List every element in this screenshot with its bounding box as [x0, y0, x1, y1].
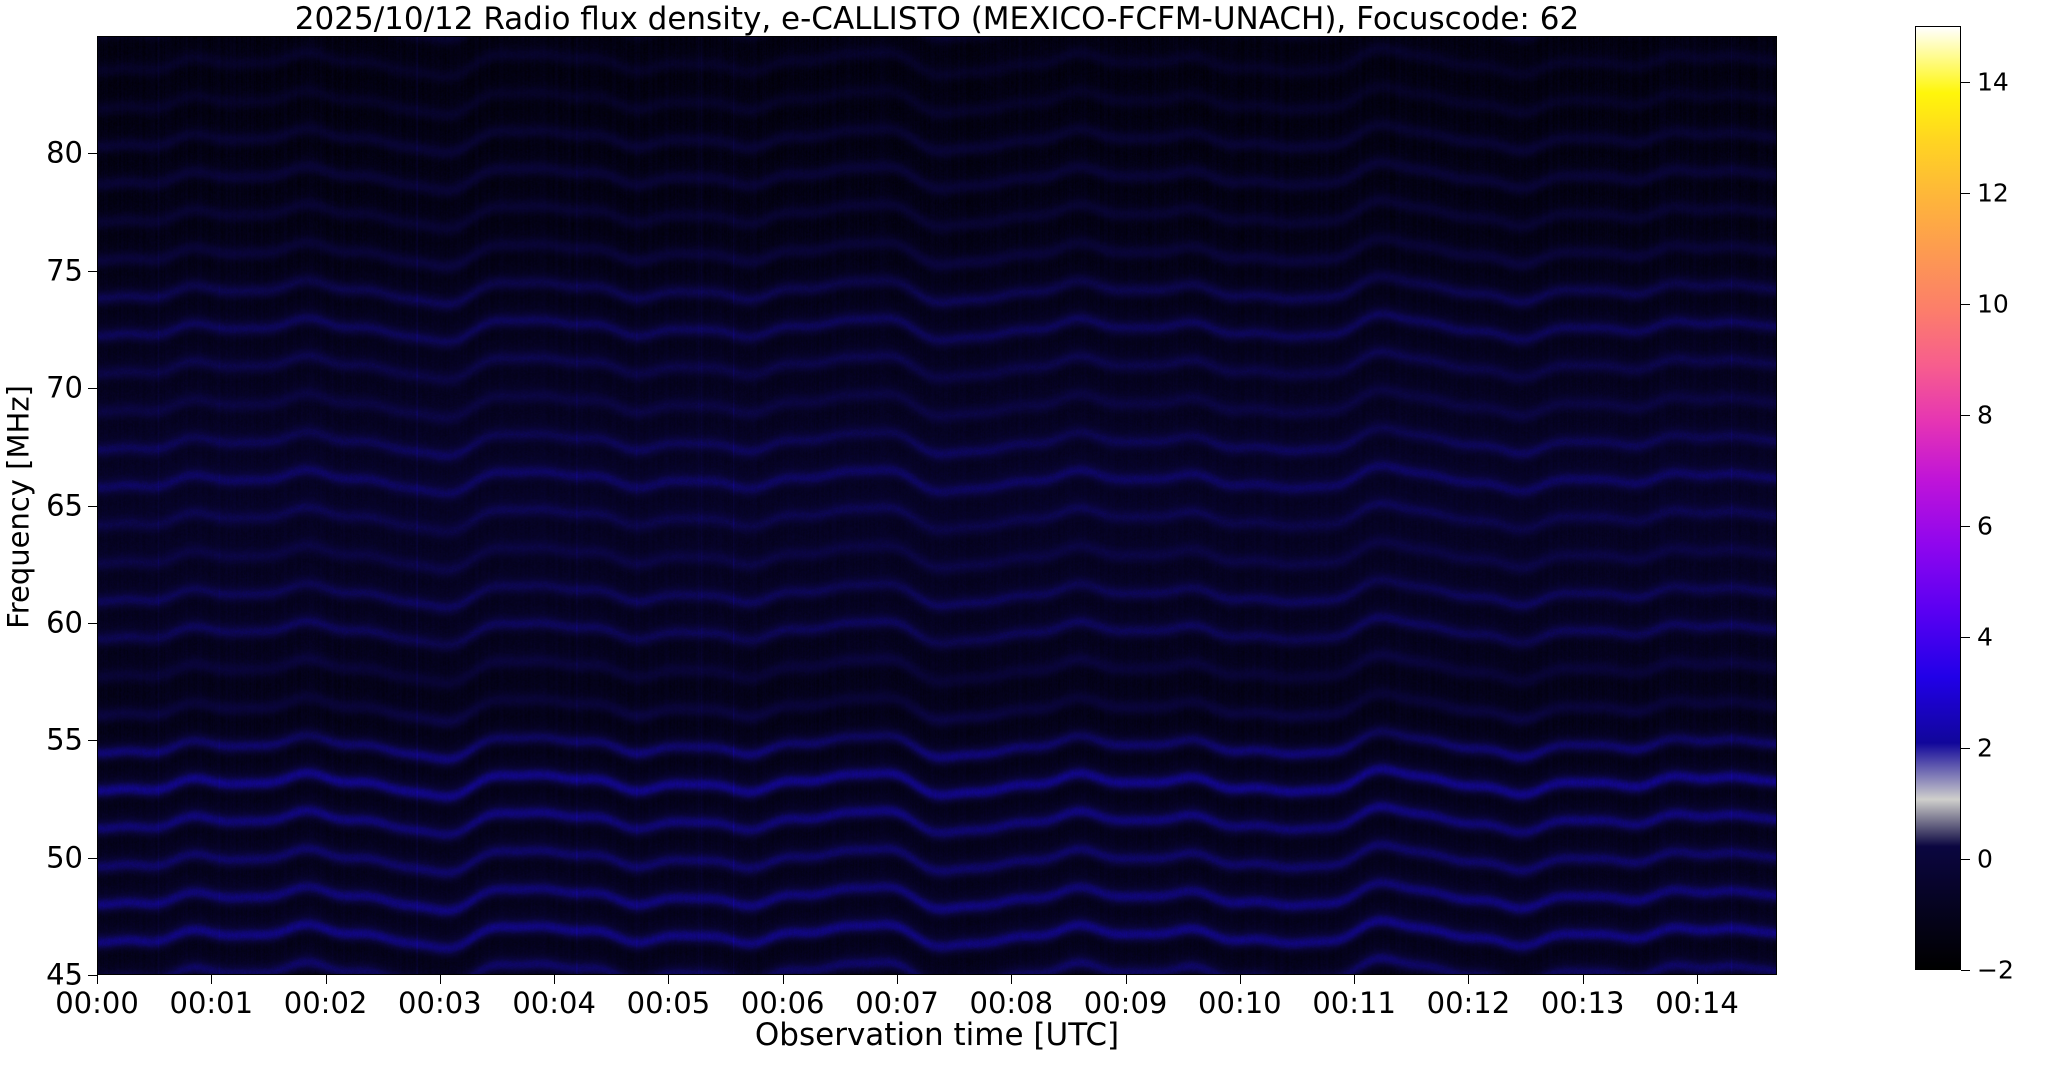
x-axis-tick-label: 00:12	[1427, 988, 1511, 1018]
y-axis-tick	[88, 858, 97, 859]
y-axis-tick-label: 55	[46, 726, 83, 755]
y-axis-tick-label: 70	[46, 374, 83, 403]
x-axis-tick	[1583, 975, 1584, 984]
colorbar-gradient	[1915, 26, 1961, 970]
colorbar-tick-label: 4	[1977, 624, 1993, 649]
spectrogram-figure: 2025/10/12 Radio flux density, e-CALLIST…	[0, 0, 2047, 1067]
x-axis-tick	[1354, 975, 1355, 984]
colorbar-tick	[1961, 526, 1970, 527]
x-axis-tick	[1697, 975, 1698, 984]
x-axis-tick-label: 00:13	[1541, 988, 1625, 1018]
y-axis-tick	[88, 388, 97, 389]
colorbar-tick	[1961, 748, 1970, 749]
x-axis-tick-label: 00:11	[1312, 988, 1396, 1018]
page-title: 2025/10/12 Radio flux density, e-CALLIST…	[97, 2, 1777, 36]
y-axis-tick-label: 60	[46, 608, 83, 637]
colorbar-tick-label: 2	[1977, 735, 1993, 760]
y-axis-tick	[88, 506, 97, 507]
y-axis-tick-label: 75	[46, 256, 83, 285]
colorbar[interactable]: −202468101214	[1915, 26, 1961, 970]
x-axis-tick	[1468, 975, 1469, 984]
x-axis-tick-label: 00:06	[741, 988, 825, 1018]
x-axis-tick-label: 00:10	[1198, 988, 1282, 1018]
colorbar-tick-label: 10	[1977, 291, 2009, 316]
colorbar-tick	[1961, 193, 1970, 194]
y-axis-tick	[88, 975, 97, 976]
spectrogram-axes[interactable]	[97, 36, 1777, 975]
colorbar-tick	[1961, 304, 1970, 305]
x-axis-tick-label: 00:02	[284, 988, 368, 1018]
y-axis-tick	[88, 623, 97, 624]
x-axis-tick-label: 00:07	[855, 988, 939, 1018]
x-axis-tick	[668, 975, 669, 984]
x-axis-tick	[1240, 975, 1241, 984]
colorbar-tick-label: 12	[1977, 180, 2009, 205]
y-axis-tick-label: 50	[46, 843, 83, 872]
x-axis-tick	[1126, 975, 1127, 984]
x-axis-tick	[211, 975, 212, 984]
x-axis-tick	[97, 975, 98, 984]
x-axis-label: Observation time [UTC]	[97, 1017, 1777, 1053]
y-axis-tick	[88, 740, 97, 741]
colorbar-tick	[1961, 637, 1970, 638]
x-axis-tick	[440, 975, 441, 984]
x-axis-tick-label: 00:03	[398, 988, 482, 1018]
y-axis-label: Frequency [MHz]	[2, 38, 36, 977]
x-axis-tick-label: 00:08	[969, 988, 1053, 1018]
x-axis-tick-label: 00:04	[512, 988, 596, 1018]
x-axis-tick-label: 00:01	[169, 988, 253, 1018]
colorbar-tick-label: −2	[1977, 958, 2014, 983]
colorbar-tick	[1961, 82, 1970, 83]
x-axis-tick	[897, 975, 898, 984]
colorbar-tick-label: 14	[1977, 69, 2009, 94]
x-axis-tick-label: 00:14	[1655, 988, 1739, 1018]
x-axis-tick	[783, 975, 784, 984]
colorbar-tick	[1961, 970, 1970, 971]
colorbar-tick-label: 6	[1977, 513, 1993, 538]
x-axis-tick-label: 00:09	[1084, 988, 1168, 1018]
x-axis-tick-label: 00:05	[627, 988, 711, 1018]
y-axis-tick-label: 80	[46, 139, 83, 168]
spectrogram-image	[98, 37, 1776, 974]
x-axis-tick	[326, 975, 327, 984]
x-axis-tick	[1011, 975, 1012, 984]
x-axis-tick-label: 00:00	[55, 988, 139, 1018]
colorbar-tick-label: 8	[1977, 402, 1993, 427]
colorbar-tick	[1961, 415, 1970, 416]
colorbar-tick	[1961, 859, 1970, 860]
x-axis-tick	[554, 975, 555, 984]
y-axis-tick	[88, 271, 97, 272]
y-axis-tick-label: 65	[46, 491, 83, 520]
colorbar-tick-label: 0	[1977, 846, 1993, 871]
y-axis-tick	[88, 153, 97, 154]
